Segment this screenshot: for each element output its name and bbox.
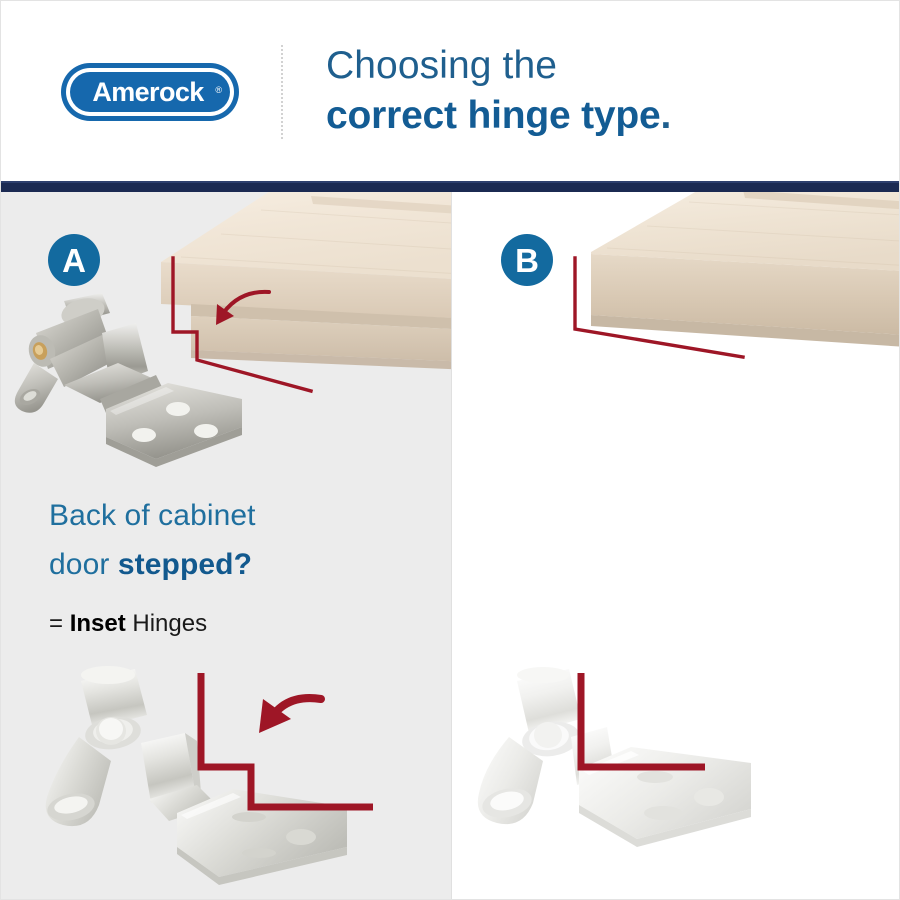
content-area: Back of cabinet door stepped? = Inset Hi…	[1, 192, 900, 900]
panel-a-inset: Back of cabinet door stepped? = Inset Hi…	[1, 192, 451, 900]
annotation-arrow-a-lower	[259, 698, 321, 733]
title-line-1: Choosing the	[326, 41, 866, 91]
cabinet-door-flat	[591, 192, 900, 399]
page-title: Choosing the correct hinge type.	[326, 41, 866, 141]
title-line-2-text: correct hinge type	[326, 94, 661, 137]
panel-a-answer-prefix: =	[49, 610, 70, 637]
panel-a-answer-strong: Inset	[70, 610, 126, 637]
title-period: .	[661, 94, 672, 137]
navy-bar-highlight	[1, 181, 900, 183]
badge-b: B	[501, 234, 553, 286]
annotation-stepped-line-a-lower	[201, 673, 373, 807]
badge-a: A	[48, 234, 100, 286]
registered-trademark-icon: ®	[215, 86, 222, 95]
panel-b-lower-illustration	[451, 641, 900, 900]
panel-a-question-line1: Back of cabinet	[49, 492, 429, 541]
title-line-2: correct hinge type.	[326, 91, 866, 141]
panel-a-question-strong: stepped?	[118, 548, 252, 581]
panel-a-answer-suffix: Hinges	[126, 610, 207, 637]
logo-wordmark: Amerock	[92, 79, 203, 106]
logo-inner-fill: Amerock	[70, 72, 230, 112]
infographic-page: Amerock ® Choosing the correct hinge typ…	[0, 0, 900, 900]
header-dotted-divider	[281, 45, 283, 139]
amerock-logo: Amerock ®	[61, 63, 239, 121]
panel-a-answer: = Inset Hinges	[49, 608, 429, 639]
inset-hinge-photo	[6, 287, 271, 467]
panel-a-question-plain: door	[49, 548, 118, 581]
navy-separator-bar	[1, 181, 900, 192]
white-overlay-hinge	[478, 667, 751, 847]
header: Amerock ® Choosing the correct hinge typ…	[1, 1, 900, 181]
panel-divider	[451, 192, 452, 900]
panel-b-overlay: Back of cabinet door flat? = Overlay Hin…	[451, 192, 900, 900]
panel-a-lower-illustration	[1, 641, 451, 900]
panel-a-question-line2: door stepped?	[49, 541, 429, 590]
panel-a-text: Back of cabinet door stepped? = Inset Hi…	[49, 492, 429, 639]
